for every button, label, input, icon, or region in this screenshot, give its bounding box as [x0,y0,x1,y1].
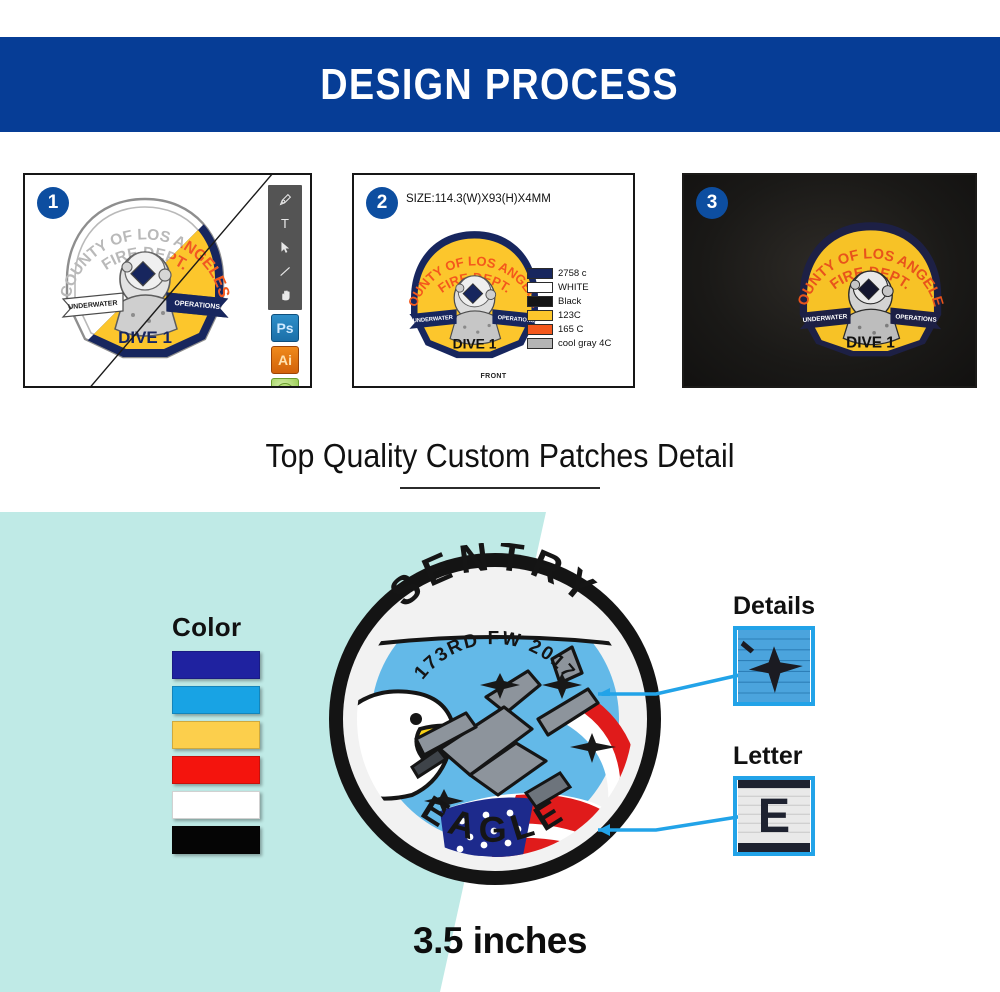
tool-palette[interactable]: T [268,185,302,310]
legend-swatch [527,324,553,335]
color-options-block: Color [172,612,264,861]
color-section-title: Color [172,612,264,643]
legend-label: 2758 c [558,268,587,279]
legend-item: 2758 c [527,267,619,280]
letter-sample-glyph: E [758,789,790,843]
letter-callout-title: Letter [733,742,815,771]
legend-item: WHITE [527,281,619,294]
line-tool-icon[interactable] [272,262,298,281]
design-process-banner: DESIGN PROCESS [0,37,1000,132]
design-software-toolbar[interactable]: T Ps Ai [268,185,302,388]
svg-text:DIVE 1: DIVE 1 [118,328,172,347]
legend-item: cool gray 4C [527,337,619,350]
legend-item: 165 C [527,323,619,336]
sentry-eagle-patch: SENTRY 173RD FW 2017 EAGLE [320,543,670,895]
selection-arrow-icon[interactable] [272,238,298,257]
legend-swatch [527,338,553,349]
legend-label: Black [558,296,581,307]
hand-tool-icon[interactable] [272,286,298,305]
photoshop-icon[interactable]: Ps [271,314,299,342]
legend-item: Black [527,295,619,308]
legend-swatch [527,282,553,293]
patch-size-spec: SIZE:114.3(W)X93(H)X4MM [406,193,551,205]
color-swatch-black[interactable] [172,826,260,854]
color-swatch-navy-blue[interactable] [172,651,260,679]
illustrator-icon[interactable]: Ai [271,346,299,374]
legend-item: 123C [527,309,619,322]
letter-callout: Letter E [733,742,815,856]
color-swatch-red[interactable] [172,756,260,784]
legend-swatch [527,296,553,307]
section-tagline: Top Quality Custom Patches Detail [40,437,960,475]
step-number-badge-1: 1 [37,187,69,219]
patch-size-caption: 3.5 inches [0,920,1000,962]
type-tool-icon[interactable]: T [272,214,298,233]
color-swatch-yellow[interactable] [172,721,260,749]
design-process-steps: 1 [0,173,1000,391]
pantone-color-legend: 2758 c WHITE Black 123C 165 C [527,267,619,351]
legend-swatch [527,310,553,321]
finished-patch-photo: COUNTY OF LOS ANGELES FIRE DEPT. [778,215,963,360]
legend-label: WHITE [558,282,589,293]
details-zoom-box [733,626,815,706]
tagline-underline [400,487,600,489]
step-number-badge-2: 2 [366,187,398,219]
details-callout: Details [733,592,815,706]
patch-vector-artwork: COUNTY OF LOS ANGELES FIRE DEPT. COUNTY … [45,183,245,383]
legend-label: 123C [558,310,581,321]
color-swatch-white[interactable] [172,791,260,819]
coreldraw-icon[interactable] [271,378,299,388]
step-number-badge-3: 3 [696,187,728,219]
step-panel-3[interactable]: 3 COUNTY OF LOS ANGELES FIRE DEPT. [682,173,977,388]
legend-label: cool gray 4C [558,338,611,349]
page-root: DESIGN PROCESS 1 [0,0,1000,992]
legend-swatch [527,268,553,279]
step-panel-2[interactable]: 2 SIZE:114.3(W)X93(H)X4MM COUNTY OF LOS … [352,173,635,388]
svg-text:DIVE 1: DIVE 1 [846,334,895,351]
step-panel-1[interactable]: 1 [23,173,312,388]
front-view-label: FRONT [354,373,633,380]
legend-label: 165 C [558,324,583,335]
details-callout-title: Details [733,592,815,621]
svg-text:DIVE 1: DIVE 1 [453,335,497,351]
color-swatch-sky-blue[interactable] [172,686,260,714]
pen-tool-icon[interactable] [272,190,298,209]
page-title: DESIGN PROCESS [321,60,680,110]
letter-zoom-box: E [733,776,815,856]
